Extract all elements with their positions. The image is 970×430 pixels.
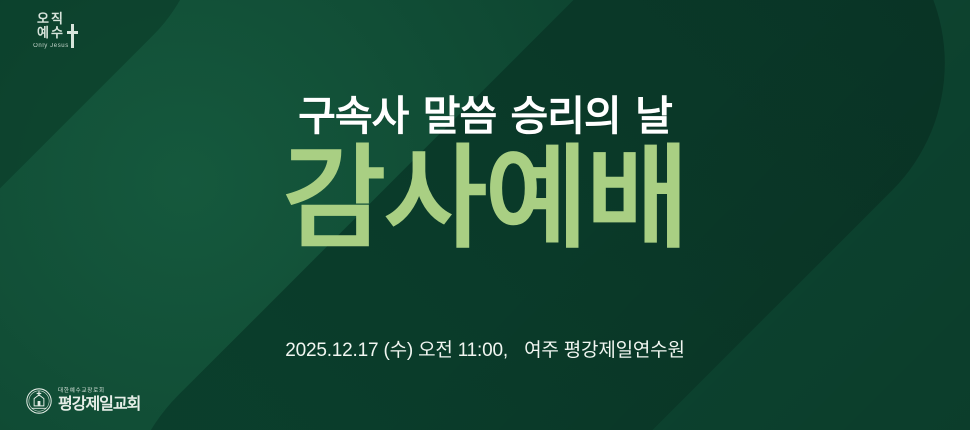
event-weekday: (수) — [383, 340, 413, 361]
church-name: 평강제일교회 — [58, 397, 140, 413]
event-venue: 여주 평강제일연수원 — [524, 340, 685, 361]
church-denomination: 대한예수교장로회 — [58, 389, 140, 395]
event-poster-banner: 오직 예수 Only Jesus 구속사 말씀 승리의 날 감사예배 2025.… — [0, 0, 970, 430]
headline-block: 구속사 말씀 승리의 날 감사예배 — [0, 96, 970, 260]
church-logo-text: 대한예수교장로회 평강제일교회 — [58, 389, 140, 413]
church-logo: 대한예수교장로회 평강제일교회 — [26, 388, 140, 414]
event-details-line: 2025.12.17 (수) 오전 11:00, 여주 평강제일연수원 — [0, 335, 970, 362]
event-time: 오전 11:00, — [418, 340, 508, 361]
page-title: 감사예배 — [0, 139, 970, 260]
church-seal-icon — [26, 388, 52, 414]
only-jesus-mark: 오직 예수 Only Jesus — [22, 12, 80, 49]
only-jesus-english: Only Jesus — [22, 43, 80, 49]
event-date: 2025.12.17 — [285, 340, 378, 361]
eyebrow-text: 구속사 말씀 승리의 날 — [0, 96, 970, 137]
